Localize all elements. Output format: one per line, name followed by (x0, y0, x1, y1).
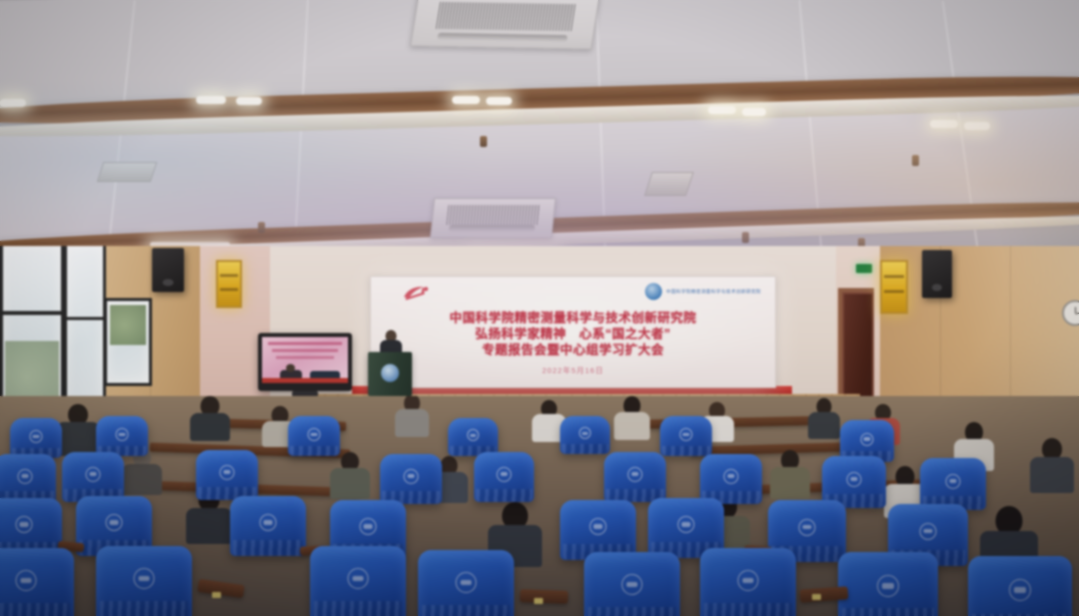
attendee (770, 450, 810, 498)
window-awning (104, 298, 152, 386)
seat-number-plate (534, 598, 543, 604)
seat[interactable] (96, 546, 192, 616)
seat[interactable] (660, 416, 712, 456)
monitor-screen (262, 337, 348, 383)
seat[interactable] (230, 496, 306, 556)
seat[interactable] (62, 452, 124, 502)
attendee (808, 398, 840, 438)
seat[interactable] (0, 548, 74, 616)
seat[interactable] (604, 452, 666, 502)
audience-area (0, 396, 1079, 616)
seat[interactable] (418, 550, 514, 616)
banner-line-3: 专题报告会暨中心组学习扩大会 (371, 339, 775, 358)
podium-emblem-icon (381, 364, 399, 382)
attendee (56, 404, 100, 454)
loudspeaker-left (152, 248, 184, 292)
attendee (395, 396, 429, 436)
seat[interactable] (196, 450, 258, 500)
seat[interactable] (448, 418, 498, 456)
banner-date: 2022年5月16日 (371, 365, 775, 376)
loudspeaker-right (922, 250, 952, 298)
ceiling (0, 0, 1079, 262)
seat-number-plate (812, 594, 821, 600)
seat[interactable] (560, 416, 610, 454)
attendee (614, 396, 650, 440)
exit-sign (856, 264, 872, 273)
attendee (330, 452, 370, 498)
attendee (190, 396, 230, 440)
seat[interactable] (10, 418, 62, 458)
seat[interactable] (288, 416, 340, 456)
projection-banner: 中国科学院精密测量科学与技术创新研究院 中国科学院精密测量科学与技术创新研究院 … (370, 276, 776, 388)
wall-light-panel-right (880, 260, 908, 314)
institute-logo-text: 中国科学院精密测量科学与技术创新研究院 (666, 289, 761, 295)
seat[interactable] (584, 552, 680, 616)
conference-hall-photo: 中国科学院精密测量科学与技术创新研究院 中国科学院精密测量科学与技术创新研究院 … (0, 0, 1079, 616)
seat[interactable] (838, 552, 938, 616)
seat[interactable] (920, 458, 986, 510)
cpc-emblem-icon (399, 282, 433, 304)
attendee (1030, 438, 1074, 492)
seat[interactable] (380, 454, 442, 504)
seat[interactable] (474, 452, 534, 502)
institute-mark-icon (645, 283, 662, 300)
podium (368, 352, 412, 396)
seat[interactable] (560, 500, 636, 560)
wall-light-panel-left (216, 260, 242, 308)
seat-number-plate (212, 592, 221, 598)
seat[interactable] (0, 454, 56, 504)
seat[interactable] (700, 454, 762, 504)
seat[interactable] (96, 416, 148, 456)
seat-armrest (520, 589, 568, 604)
side-display-monitor (258, 333, 352, 391)
institute-logo: 中国科学院精密测量科学与技术创新研究院 (645, 283, 761, 300)
seat[interactable] (968, 556, 1072, 616)
seat[interactable] (700, 548, 796, 616)
seat[interactable] (310, 546, 406, 616)
